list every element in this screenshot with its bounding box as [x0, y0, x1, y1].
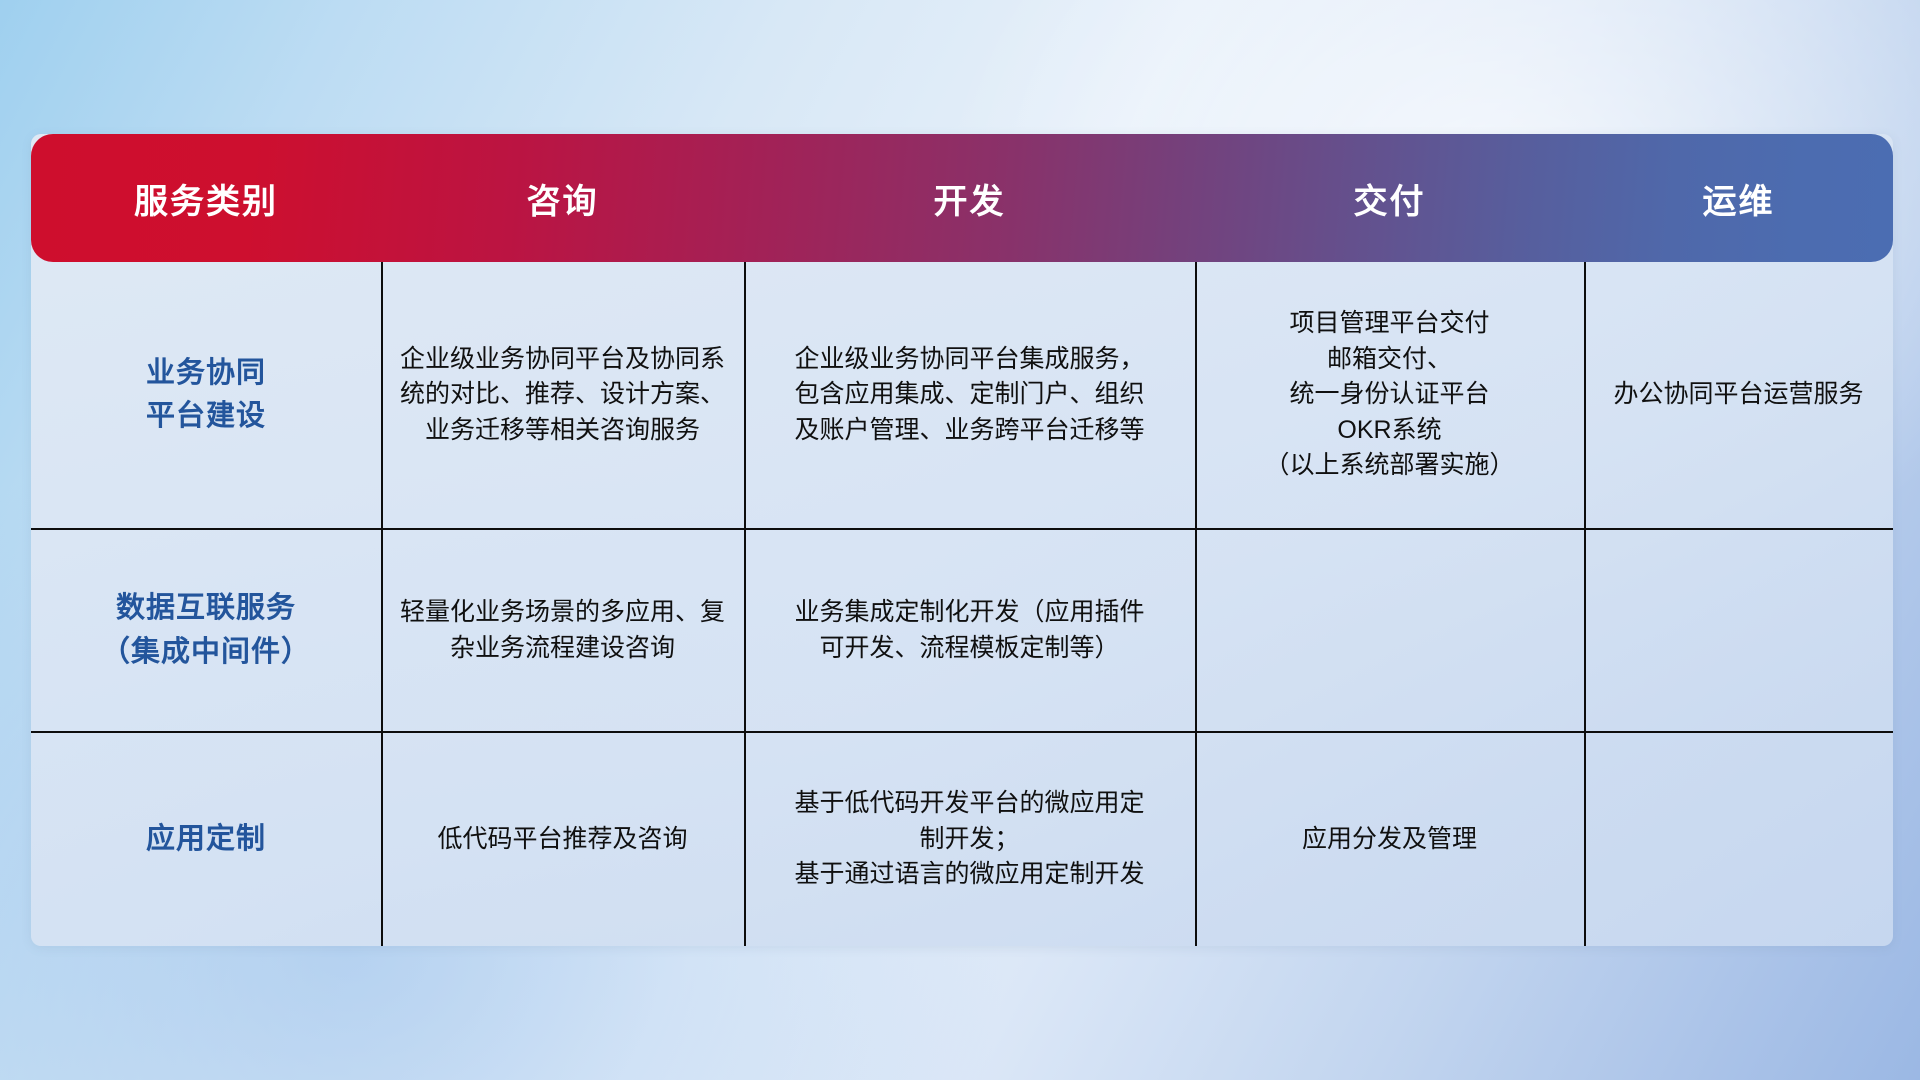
table-header-row: 服务类别 咨询 开发 交付 运维: [31, 134, 1893, 262]
cell-r2-operations: [1584, 530, 1893, 731]
cell-r3-operations: [1584, 733, 1893, 946]
service-matrix-table: 服务类别 咨询 开发 交付 运维 业务协同 平台建设 企业级业务协同平台及协同系…: [31, 134, 1893, 946]
cell-r2-development: 业务集成定制化开发（应用插件 可开发、流程模板定制等）: [744, 530, 1195, 731]
column-header-delivery: 交付: [1195, 174, 1584, 223]
table-row: 数据互联服务 （集成中间件） 轻量化业务场景的多应用、复 杂业务流程建设咨询 业…: [31, 530, 1893, 731]
table-row: 业务协同 平台建设 企业级业务协同平台及协同系 统的对比、推荐、设计方案、 业务…: [31, 262, 1893, 528]
column-header-category: 服务类别: [31, 174, 381, 223]
column-header-development: 开发: [744, 174, 1195, 223]
cell-r1-delivery: 项目管理平台交付 邮箱交付、 统一身份认证平台 OKR系统 （以上系统部署实施）: [1195, 262, 1584, 528]
row-label-business-collaboration: 业务协同 平台建设: [31, 262, 381, 528]
table-row: 应用定制 低代码平台推荐及咨询 基于低代码开发平台的微应用定 制开发； 基于通过…: [31, 733, 1893, 946]
cell-r3-consulting: 低代码平台推荐及咨询: [381, 733, 744, 946]
cell-r1-consulting: 企业级业务协同平台及协同系 统的对比、推荐、设计方案、 业务迁移等相关咨询服务: [381, 262, 744, 528]
row-label-app-customization: 应用定制: [31, 733, 381, 946]
cell-r3-delivery: 应用分发及管理: [1195, 733, 1584, 946]
cell-r3-development: 基于低代码开发平台的微应用定 制开发； 基于通过语言的微应用定制开发: [744, 733, 1195, 946]
cell-r1-operations: 办公协同平台运营服务: [1584, 262, 1893, 528]
column-header-operations: 运维: [1584, 174, 1893, 223]
cell-r1-development: 企业级业务协同平台集成服务， 包含应用集成、定制门户、组织 及账户管理、业务跨平…: [744, 262, 1195, 528]
cell-r2-consulting: 轻量化业务场景的多应用、复 杂业务流程建设咨询: [381, 530, 744, 731]
column-header-consulting: 咨询: [381, 174, 744, 223]
cell-r2-delivery: [1195, 530, 1584, 731]
row-label-data-interconnect: 数据互联服务 （集成中间件）: [31, 530, 381, 731]
